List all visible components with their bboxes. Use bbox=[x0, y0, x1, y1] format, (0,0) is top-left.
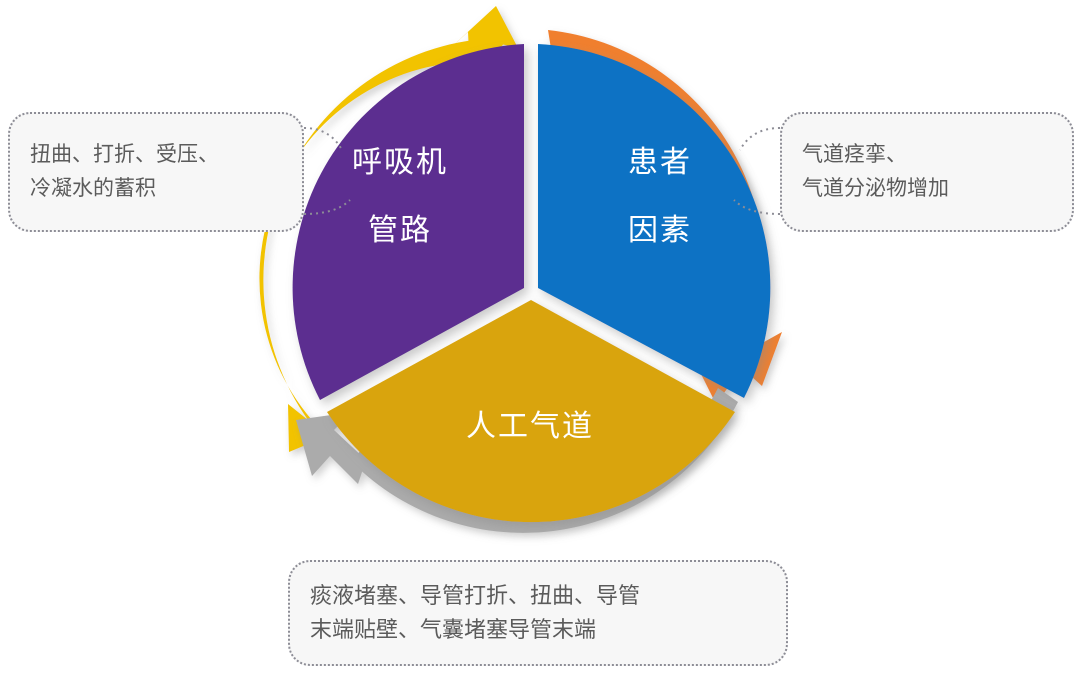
callout-line: 气道分泌物增加 bbox=[802, 172, 1052, 206]
callout-line: 冷凝水的蓄积 bbox=[30, 172, 282, 206]
cycle-diagram: 呼吸机 管路 患者 因素 人工气道 扭曲、打折、受压、 冷凝水的蓄积 气道痉挛、… bbox=[0, 0, 1080, 678]
callout-line: 扭曲、打折、受压、 bbox=[30, 138, 282, 172]
callout-patient-factors: 气道痉挛、 气道分泌物增加 bbox=[780, 112, 1074, 232]
callout-line: 痰液堵塞、导管打折、扭曲、导管 bbox=[310, 579, 766, 613]
leader-line-right bbox=[740, 128, 780, 150]
callout-artificial-airway: 痰液堵塞、导管打折、扭曲、导管 末端贴壁、气囊堵塞导管末端 bbox=[288, 560, 788, 666]
callout-line: 末端贴壁、气囊堵塞导管末端 bbox=[310, 613, 766, 647]
callout-line: 气道痉挛、 bbox=[802, 138, 1052, 172]
callout-ventilator-circuit: 扭曲、打折、受压、 冷凝水的蓄积 bbox=[8, 112, 304, 232]
